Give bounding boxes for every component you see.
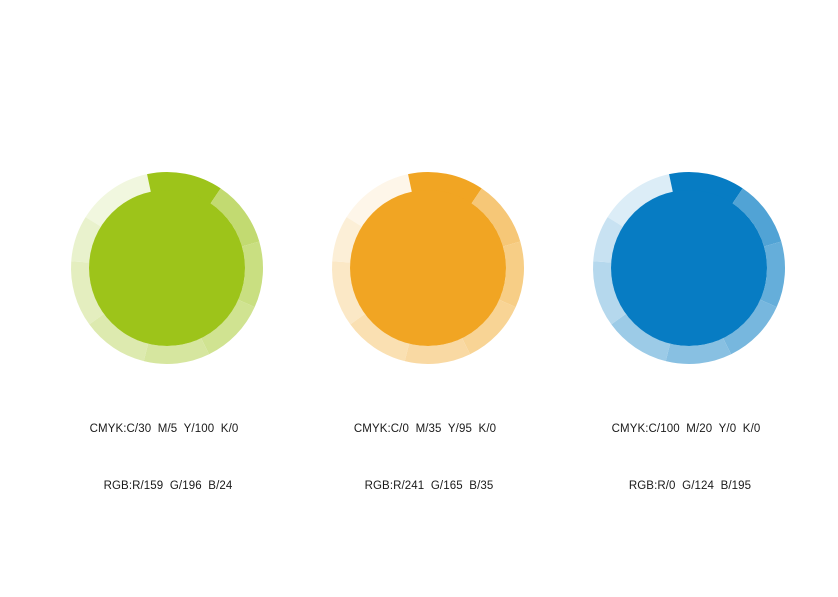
color-wheel-orange-svg [328,168,528,368]
core-disc-blue [611,190,767,346]
color-wheel-green [67,168,267,368]
core-disc-green [89,190,245,346]
color-wheel-orange [328,168,528,368]
color-swatch-blue: CMYK:C/100 M/20 Y/0 K/0 RGB:R/0 G/124 B/… [549,168,829,534]
rgb-value-orange: RGB:R/241 G/165 B/35 [362,477,496,496]
color-wheel-blue-svg [589,168,789,368]
rgb-value-blue: RGB:R/0 G/124 B/195 [620,477,761,496]
swatch-caption-green: CMYK:C/30 M/5 Y/100 K/0 RGB:R/159 G/196 … [96,382,239,534]
cmyk-value-orange: CMYK:C/0 M/35 Y/95 K/0 [354,420,496,439]
color-wheel-blue [589,168,789,368]
swatch-caption-blue: CMYK:C/100 M/20 Y/0 K/0 RGB:R/0 G/124 B/… [618,382,761,534]
swatch-caption-orange: CMYK:C/0 M/35 Y/95 K/0 RGB:R/241 G/165 B… [360,382,496,534]
color-palette-board: CMYK:C/30 M/5 Y/100 K/0 RGB:R/159 G/196 … [0,0,838,597]
rgb-value-green: RGB:R/159 G/196 B/24 [98,477,239,496]
cmyk-value-blue: CMYK:C/100 M/20 Y/0 K/0 [612,420,761,439]
color-swatch-orange: CMYK:C/0 M/35 Y/95 K/0 RGB:R/241 G/165 B… [288,168,568,534]
color-swatch-green: CMYK:C/30 M/5 Y/100 K/0 RGB:R/159 G/196 … [27,168,307,534]
cmyk-value-green: CMYK:C/30 M/5 Y/100 K/0 [90,420,239,439]
core-disc-orange [350,190,506,346]
color-wheel-green-svg [67,168,267,368]
